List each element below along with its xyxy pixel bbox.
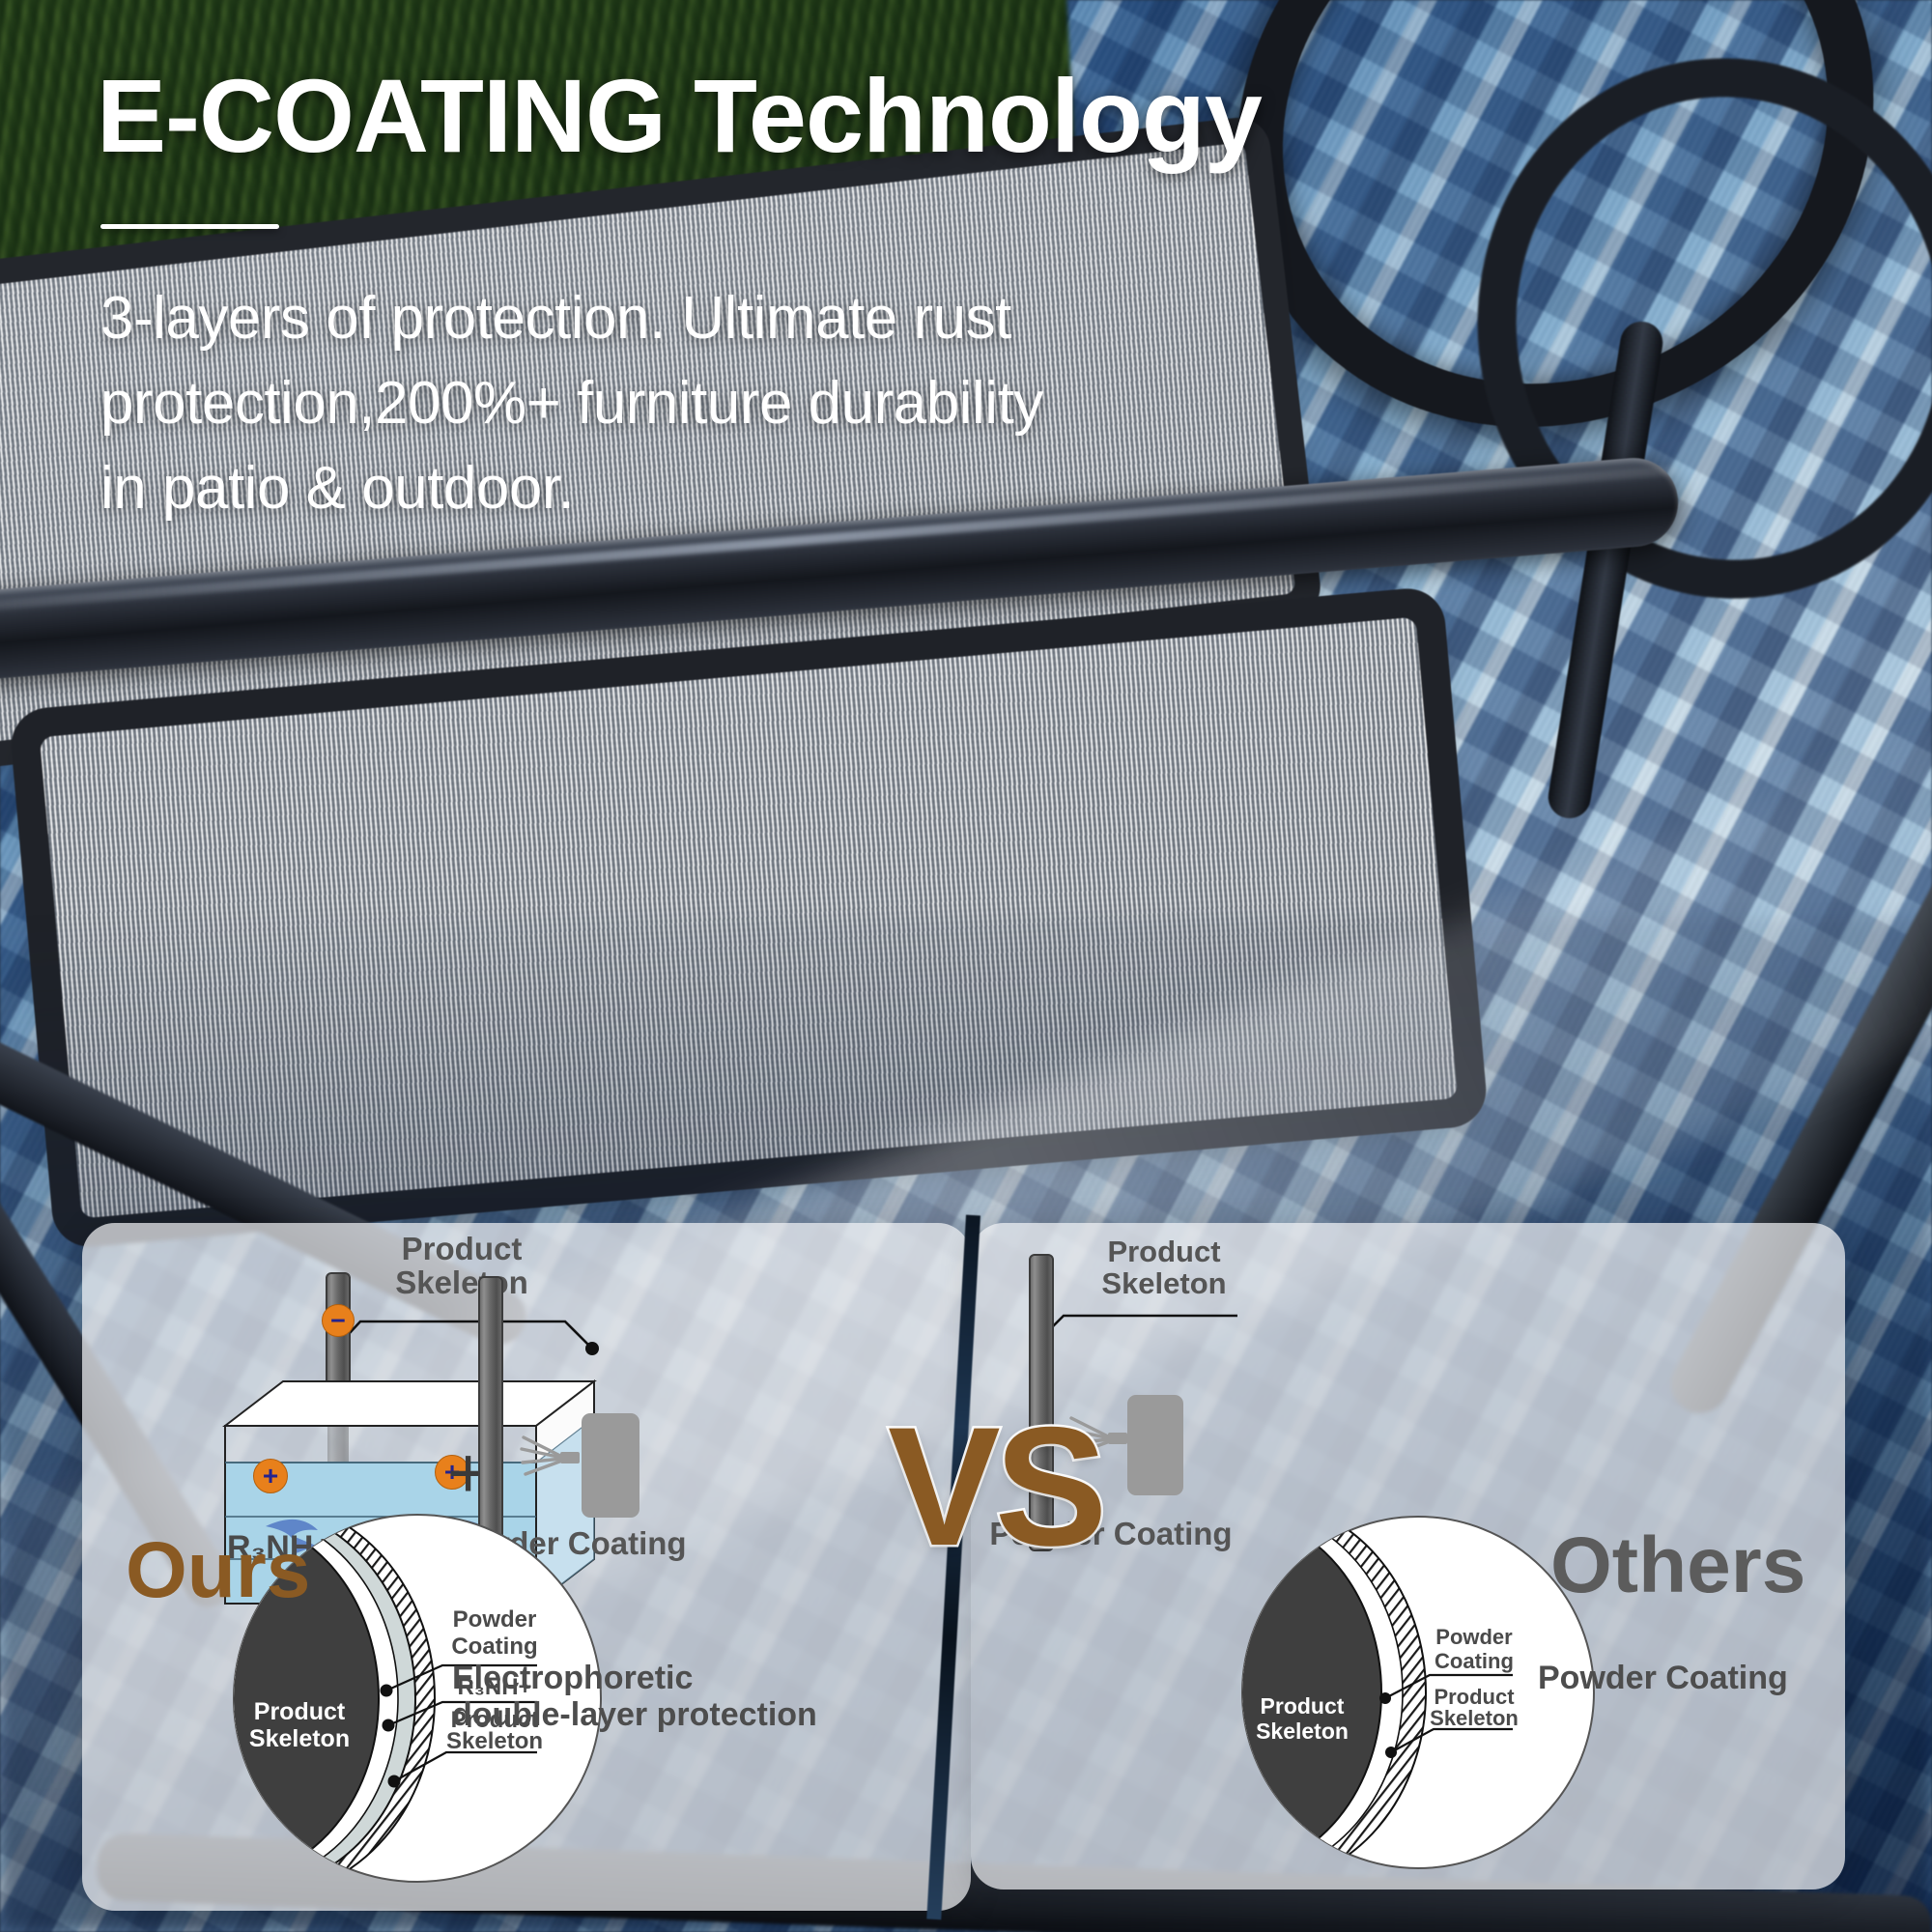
- others-layer1-label-line1: Powder: [1435, 1625, 1513, 1649]
- others-layer2-label-line2: Skeleton: [1430, 1706, 1519, 1730]
- ours-layer1-label-line2: Coating: [451, 1634, 537, 1660]
- product-infographic: E-COATING Technology 3-layers of protect…: [0, 0, 1932, 1932]
- others-powder-gun-body: [1127, 1395, 1183, 1495]
- anode-plus-ion-left: +: [253, 1459, 288, 1493]
- others-core-label-line2: Skeleton: [1256, 1719, 1349, 1744]
- page-title: E-COATING Technology: [97, 60, 1262, 173]
- ours-caption: Electrophoretic double-layer protection: [452, 1660, 838, 1733]
- versus-label: VS: [888, 1403, 1101, 1572]
- others-core-label-line1: Product: [1261, 1693, 1345, 1719]
- ours-title: Ours: [126, 1531, 310, 1610]
- subheadline-copy: 3-layers of protection. Ultimate rust pr…: [100, 276, 1086, 531]
- ours-spray-nozzle-icon: [520, 1426, 589, 1493]
- title-underline-rule: [100, 224, 279, 229]
- others-layer1-label-line2: Coating: [1435, 1649, 1514, 1673]
- others-product-skeleton-label: Product Skeleton: [1053, 1236, 1275, 1300]
- ours-core-label-line2: Skeleton: [249, 1725, 350, 1752]
- cathode-minus-ion: −: [322, 1304, 355, 1337]
- ours-layer1-label-line1: Powder: [453, 1606, 537, 1633]
- ours-core-label-line1: Product: [254, 1698, 346, 1725]
- others-caption: Powder Coating: [1538, 1660, 1932, 1696]
- ours-product-skeleton-label: Product Skeleton: [355, 1233, 568, 1300]
- others-title: Others: [1550, 1526, 1805, 1605]
